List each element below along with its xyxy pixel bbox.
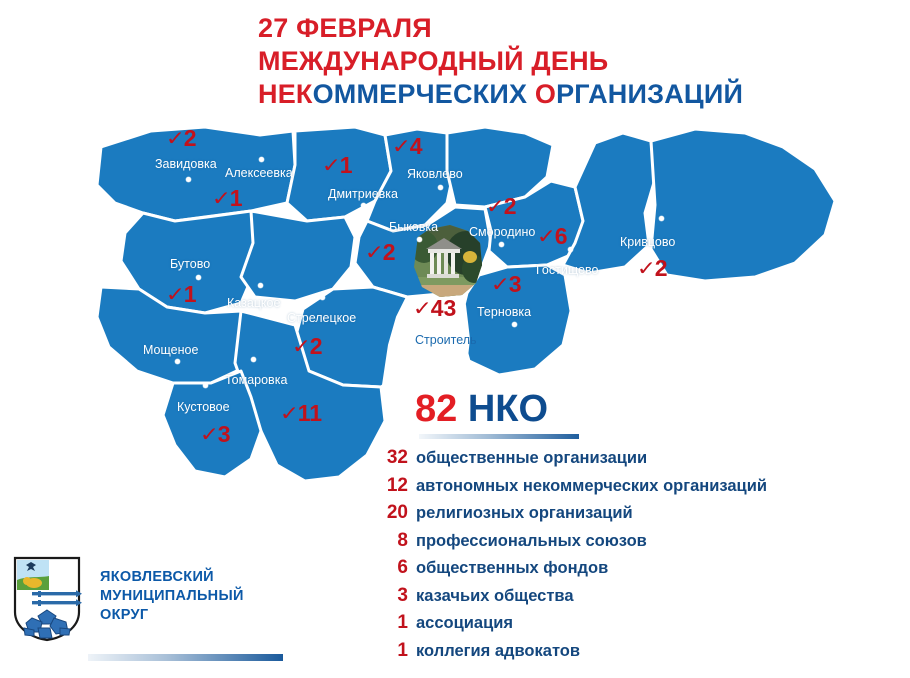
stat-divider-bar bbox=[419, 434, 579, 439]
breakdown-row: 3казачьих общества bbox=[372, 585, 882, 607]
settlement-9-label: Строитель bbox=[415, 333, 477, 347]
checkmark-icon: ✓ bbox=[637, 259, 656, 279]
settlement-4-count-checkmark: ✓2 bbox=[366, 241, 396, 264]
checkmark-icon: ✓ bbox=[166, 129, 185, 149]
breakdown-text: коллегия адвокатов bbox=[416, 642, 580, 661]
title-line-3: НЕКОММЕРЧЕСКИХ ОРГАНИЗАЦИЙ bbox=[258, 78, 898, 111]
checkmark-icon: ✓ bbox=[537, 227, 556, 247]
settlement-0-count-checkmark: ✓2 bbox=[167, 127, 197, 150]
settlement-10-label: Бутово bbox=[170, 257, 210, 271]
checkmark-icon: ✓ bbox=[413, 299, 432, 319]
region-krivtsovo bbox=[651, 129, 835, 281]
settlement-10-count-checkmark: ✓1 bbox=[167, 283, 197, 306]
settlement-3-dot bbox=[438, 185, 443, 190]
footer-divider-bar bbox=[88, 654, 283, 661]
breakdown-count: 8 bbox=[372, 530, 408, 552]
breakdown-count: 20 bbox=[372, 502, 408, 524]
breakdown-text: ассоциация bbox=[416, 614, 513, 633]
footer-org-name: ЯКОВЛЕВСКИЙ МУНИЦИПАЛЬНЫЙ ОКРУГ bbox=[100, 568, 244, 625]
settlement-11-dot bbox=[258, 283, 263, 288]
footer-branding: ЯКОВЛЕВСКИЙ МУНИЦИПАЛЬНЫЙ ОКРУГ bbox=[12, 556, 352, 666]
checkmark-icon: ✓ bbox=[200, 425, 219, 445]
checkmark-icon: ✓ bbox=[486, 197, 505, 217]
settlement-7-label: Кривцово bbox=[620, 235, 675, 249]
breakdown-text: казачьих общества bbox=[416, 587, 574, 606]
settlement-1-label: Алексеевка bbox=[225, 166, 293, 180]
breakdown-count: 12 bbox=[372, 475, 408, 497]
settlement-4-dot bbox=[417, 237, 422, 242]
checkmark-icon: ✓ bbox=[280, 404, 299, 424]
settlement-0-label: Завидовка bbox=[155, 157, 217, 171]
breakdown-row: 12автономных некоммерческих организаций bbox=[372, 475, 882, 497]
breakdown-count: 3 bbox=[372, 585, 408, 607]
breakdown-count: 1 bbox=[372, 640, 408, 662]
breakdown-count: 1 bbox=[372, 612, 408, 634]
settlement-15-label: Кустовое bbox=[177, 400, 230, 414]
checkmark-icon: ✓ bbox=[491, 275, 510, 295]
footer-line-3: ОКРУГ bbox=[100, 606, 244, 625]
settlement-4-label: Быковка bbox=[389, 220, 438, 234]
checkmark-icon: ✓ bbox=[392, 137, 411, 157]
total-nko-stat: 82 НКО bbox=[415, 388, 548, 430]
settlement-15-count-checkmark: ✓3 bbox=[201, 423, 231, 446]
checkmark-icon: ✓ bbox=[166, 285, 185, 305]
settlement-11-label: Казацкое bbox=[227, 296, 280, 310]
settlement-2-count-checkmark: ✓1 bbox=[323, 154, 353, 177]
settlement-8-label: Терновка bbox=[477, 305, 531, 319]
settlement-13-dot bbox=[175, 359, 180, 364]
settlement-12-label: Стрелецкое bbox=[287, 311, 356, 325]
settlement-14-label: Томаровка bbox=[225, 373, 287, 387]
settlement-3-count-checkmark: ✓4 bbox=[393, 135, 423, 158]
infographic-root: 27 ФЕВРАЛЯ МЕЖДУНАРОДНЫЙ ДЕНЬ НЕКОММЕРЧЕ… bbox=[0, 0, 910, 678]
breakdown-text: общественные организации bbox=[416, 449, 647, 468]
breakdown-count: 6 bbox=[372, 557, 408, 579]
title-line-3-part-a: НЕК bbox=[258, 79, 313, 109]
page-title: 27 ФЕВРАЛЯ МЕЖДУНАРОДНЫЙ ДЕНЬ НЕКОММЕРЧЕ… bbox=[258, 12, 898, 111]
checkmark-icon: ✓ bbox=[365, 243, 384, 263]
settlement-3-label: Яковлево bbox=[407, 167, 463, 181]
title-line-3-part-c: О bbox=[535, 79, 556, 109]
settlement-5-dot bbox=[499, 242, 504, 247]
breakdown-count: 32 bbox=[372, 447, 408, 469]
settlement-2-dot bbox=[361, 203, 366, 208]
settlement-8-dot bbox=[512, 322, 517, 327]
breakdown-row: 20религиозных организаций bbox=[372, 502, 882, 524]
total-nko-label: НКО bbox=[468, 388, 548, 430]
checkmark-icon: ✓ bbox=[212, 189, 231, 209]
breakdown-text: религиозных организаций bbox=[416, 504, 633, 523]
total-nko-number: 82 bbox=[415, 388, 457, 430]
settlement-9-count-checkmark: ✓43 bbox=[414, 297, 456, 320]
breakdown-row: 1ассоциация bbox=[372, 612, 882, 634]
yakovlevsky-coat-of-arms-icon bbox=[12, 556, 82, 642]
settlement-12-count-checkmark: ✓2 bbox=[293, 335, 323, 358]
title-line-1: 27 ФЕВРАЛЯ bbox=[258, 12, 898, 45]
settlement-5-label: Смородино bbox=[469, 225, 535, 239]
settlement-8-count-checkmark: ✓3 bbox=[492, 273, 522, 296]
footer-line-1: ЯКОВЛЕВСКИЙ bbox=[100, 568, 244, 587]
breakdown-text: автономных некоммерческих организаций bbox=[416, 477, 767, 496]
settlement-7-count-checkmark: ✓2 bbox=[638, 257, 668, 280]
breakdown-row: 32общественные организации bbox=[372, 447, 882, 469]
settlement-6-count-checkmark: ✓6 bbox=[538, 225, 568, 248]
settlement-15-dot bbox=[203, 383, 208, 388]
breakdown-text: общественных фондов bbox=[416, 559, 608, 578]
footer-line-2: МУНИЦИПАЛЬНЫЙ bbox=[100, 587, 244, 606]
checkmark-icon: ✓ bbox=[292, 337, 311, 357]
nko-breakdown-list: 32общественные организации12автономных н… bbox=[372, 447, 882, 667]
checkmark-icon: ✓ bbox=[322, 156, 341, 176]
title-line-2: МЕЖДУНАРОДНЫЙ ДЕНЬ bbox=[258, 45, 898, 78]
breakdown-text: профессиональных союзов bbox=[416, 532, 647, 551]
settlement-0-dot bbox=[186, 177, 191, 182]
title-line-3-part-b: ОММЕРЧЕСКИХ bbox=[313, 79, 535, 109]
settlement-6-dot bbox=[568, 247, 573, 252]
settlement-6-label: Гостищево bbox=[536, 263, 598, 277]
settlement-1-count-checkmark: ✓1 bbox=[213, 187, 243, 210]
settlement-13-label: Мощеное bbox=[143, 343, 198, 357]
settlement-1-dot bbox=[259, 157, 264, 162]
settlement-2-label: Дмитриевка bbox=[328, 187, 398, 201]
breakdown-row: 8профессиональных союзов bbox=[372, 530, 882, 552]
settlement-14-count-checkmark: ✓11 bbox=[281, 402, 322, 425]
settlement-7-dot bbox=[659, 216, 664, 221]
title-line-3-part-d: РГАНИЗАЦИЙ bbox=[556, 79, 743, 109]
settlement-14-dot bbox=[251, 357, 256, 362]
settlement-5-count-checkmark: ✓2 bbox=[487, 195, 517, 218]
breakdown-row: 6общественных фондов bbox=[372, 557, 882, 579]
breakdown-row: 1коллегия адвокатов bbox=[372, 640, 882, 662]
settlement-12-dot bbox=[320, 295, 325, 300]
settlement-10-dot bbox=[196, 275, 201, 280]
